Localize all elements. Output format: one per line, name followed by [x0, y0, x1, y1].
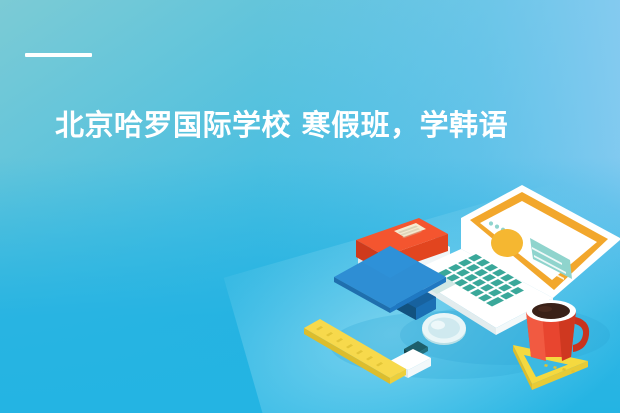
education-desk-illustration	[300, 185, 620, 413]
banner-image: 北京哈罗国际学校 寒假班，学韩语	[0, 0, 620, 413]
page-title: 北京哈罗国际学校 寒假班，学韩语	[55, 106, 595, 144]
accent-rule	[25, 53, 92, 57]
